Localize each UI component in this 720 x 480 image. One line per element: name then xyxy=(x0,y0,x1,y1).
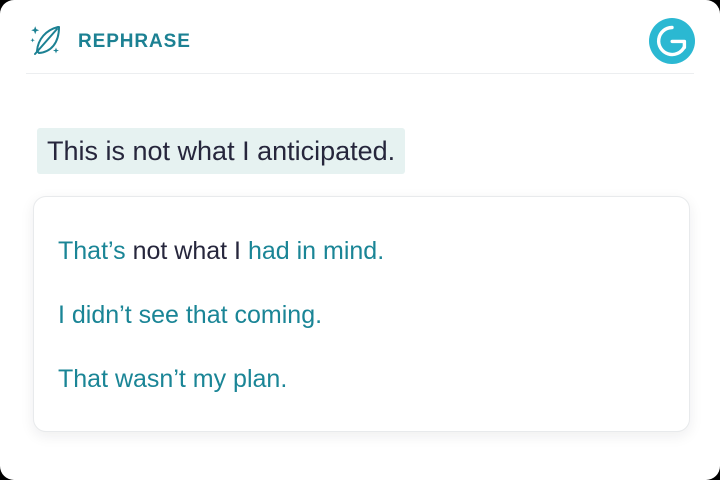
original-sentence-text: This is not what I anticipated. xyxy=(37,128,405,174)
suggestion-1-segment-1: That’s xyxy=(58,236,126,266)
suggestions-card: That’s not what I had in mind. I didn’t … xyxy=(33,196,690,432)
suggestion-item-3[interactable]: That wasn’t my plan. xyxy=(58,347,665,411)
suggestion-item-2[interactable]: I didn’t see that coming. xyxy=(58,283,665,347)
page-title: REPHRASE xyxy=(78,32,191,51)
suggestion-item-1[interactable]: That’s not what I had in mind. xyxy=(58,219,665,283)
rephrase-panel: REPHRASE This is not what I anticipated.… xyxy=(0,0,720,480)
header-divider xyxy=(26,73,694,74)
suggestion-1-segment-2 xyxy=(126,236,133,266)
suggestion-3-text: That wasn’t my plan. xyxy=(58,364,287,394)
suggestion-1-segment-3: not what I xyxy=(133,236,241,266)
original-sentence: This is not what I anticipated. xyxy=(37,128,405,174)
quill-sparkle-icon xyxy=(26,21,68,61)
suggestion-1-segment-5: had in mind. xyxy=(248,236,384,266)
suggestion-1-segment-4 xyxy=(241,236,248,266)
grammarly-g-logo-icon xyxy=(649,18,695,64)
brand-group: REPHRASE xyxy=(26,21,191,61)
suggestion-2-text: I didn’t see that coming. xyxy=(58,300,322,330)
panel-header: REPHRASE xyxy=(0,0,720,74)
